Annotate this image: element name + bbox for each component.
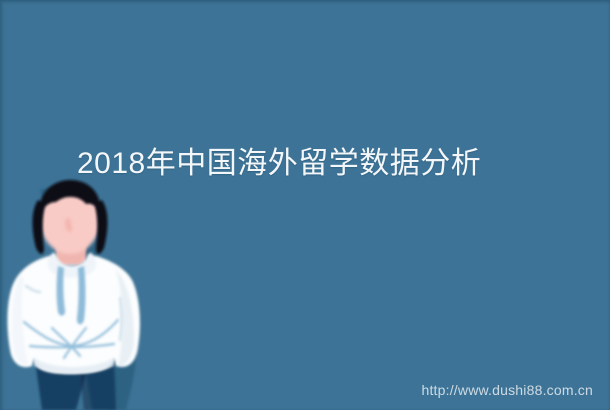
slide-canvas: 2018年中国海外留学数据分析 http://www.dushi88.com.c… [0, 0, 610, 410]
page-title: 2018年中国海外留学数据分析 [77, 146, 481, 182]
source-watermark: http://www.dushi88.com.cn [421, 382, 593, 398]
hoodie [7, 252, 140, 374]
student-illustration [0, 178, 160, 410]
